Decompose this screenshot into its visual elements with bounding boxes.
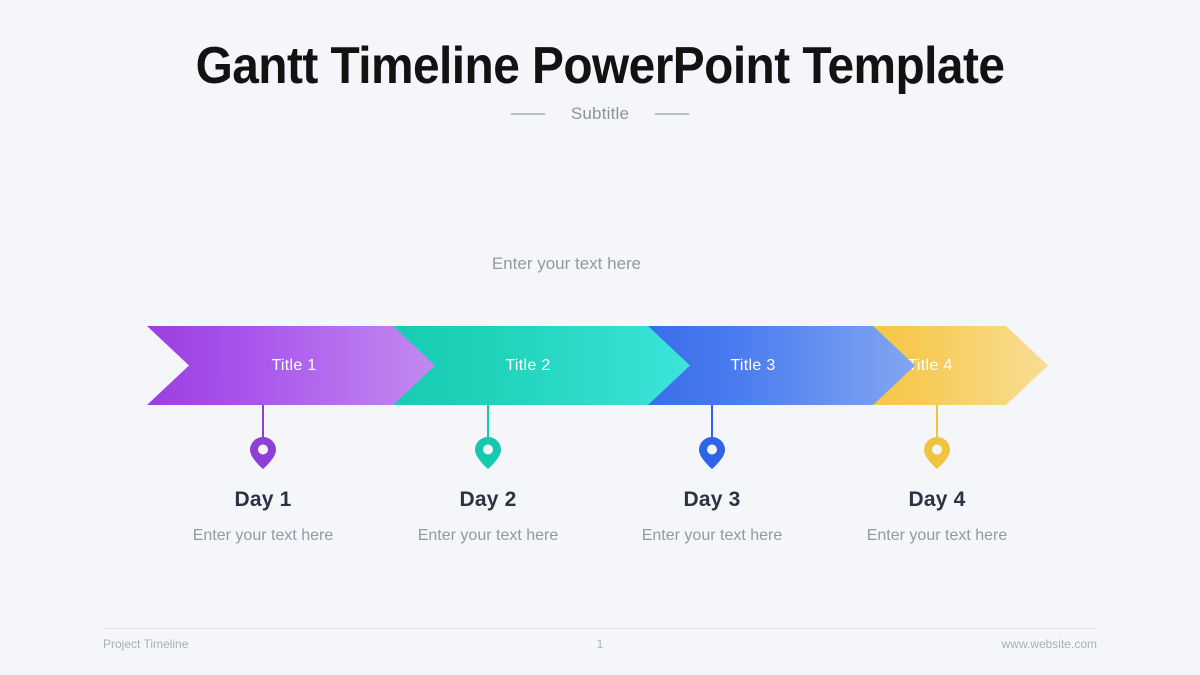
footer-divider [103, 628, 1097, 629]
subtitle-row: Subtitle [0, 104, 1200, 124]
day-column-2: Day 2 Enter your text here [383, 488, 593, 549]
day-column-3: Day 3 Enter your text here [607, 488, 817, 549]
map-pin-icon-1[interactable] [249, 436, 277, 470]
band-caption: Enter your text here [0, 254, 1133, 274]
footer-page-number: 1 [0, 637, 1200, 651]
chevron-label-2: Title 2 [499, 357, 550, 375]
day-desc-2: Enter your text here [383, 524, 593, 549]
day-column-1: Day 1 Enter your text here [158, 488, 368, 549]
chevron-band: Title 1 Title 2 Title 3 Title 4 [147, 326, 1048, 405]
day-title-4: Day 4 [832, 488, 1042, 512]
slide: Gantt Timeline PowerPoint Template Subti… [0, 0, 1200, 675]
day-column-4: Day 4 Enter your text here [832, 488, 1042, 549]
day-desc-3: Enter your text here [607, 524, 817, 549]
day-desc-4: Enter your text here [832, 524, 1042, 549]
day-desc-1: Enter your text here [158, 524, 368, 549]
map-pin-icon-3[interactable] [698, 436, 726, 470]
chevron-label-1: Title 1 [265, 357, 316, 375]
subtitle-dash-left [511, 113, 545, 115]
chevron-label-3: Title 3 [724, 357, 775, 375]
subtitle-dash-right [655, 113, 689, 115]
chevron-segment-1[interactable]: Title 1 [147, 326, 435, 405]
page-title: Gantt Timeline PowerPoint Template [48, 38, 1152, 95]
map-pin-icon-2[interactable] [474, 436, 502, 470]
day-title-3: Day 3 [607, 488, 817, 512]
day-title-2: Day 2 [383, 488, 593, 512]
subtitle-text: Subtitle [571, 104, 629, 124]
map-pin-icon-4[interactable] [923, 436, 951, 470]
day-title-1: Day 1 [158, 488, 368, 512]
